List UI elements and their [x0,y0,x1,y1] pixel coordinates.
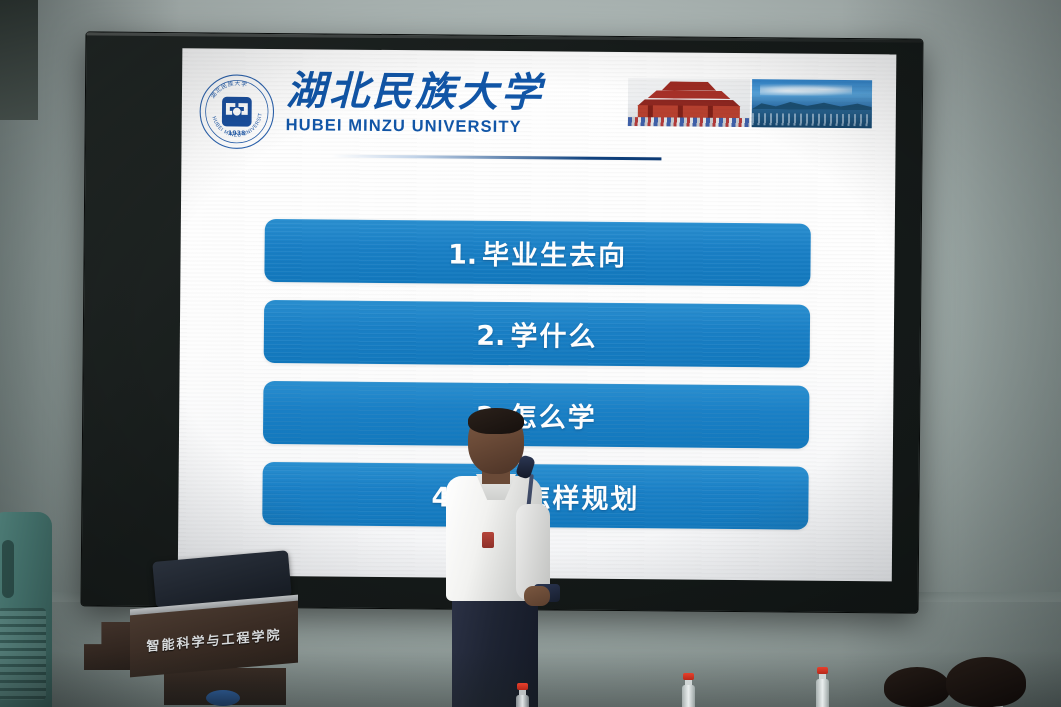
presenter-hair [468,408,524,434]
audience-head [884,667,950,707]
university-seal-icon: 1938 湖北民族大学 HUBEI MINZU UNIVERSITY [197,72,276,151]
lectern-label: 智能科学与工程学院 [146,624,281,655]
agenda-item-1[interactable]: 1.毕业生去向 [264,219,811,287]
university-title-block: 湖北民族大学 HUBEI MINZU UNIVERSITY [286,71,587,138]
left-wall-panel [0,0,38,120]
water-bottle [682,673,694,707]
audience-head [946,657,1026,707]
agenda-item-2-text: 学什么 [510,321,597,353]
agenda-item-1-label: 1.毕业生去向 [448,233,627,274]
agenda-item-1-text: 毕业生去向 [482,240,627,272]
campus-aerial-photo [752,79,872,128]
presenter-hand [524,586,550,606]
slide-header: 1938 湖北民族大学 HUBEI MINZU UNIVERSITY 湖北民族大… [181,48,896,178]
agenda-item-2-number: 2. [476,321,505,352]
lecture-hall-photo: 1938 湖北民族大学 HUBEI MINZU UNIVERSITY 湖北民族大… [0,0,1061,707]
university-name-en: HUBEI MINZU UNIVERSITY [286,116,586,138]
chair-handle-slot [2,540,14,598]
campus-gate-photo [628,78,750,127]
agenda-item-2[interactable]: 2.学什么 [264,300,811,368]
water-bottle [516,683,528,707]
water-bottle [816,667,828,707]
agenda-item-1-number: 1. [448,240,477,271]
agenda-item-2-label: 2.学什么 [476,314,597,354]
presenter-badge [482,532,494,548]
header-photo-strip [628,78,872,128]
header-divider [331,155,661,160]
university-name-cn: 湖北民族大学 [286,71,586,114]
